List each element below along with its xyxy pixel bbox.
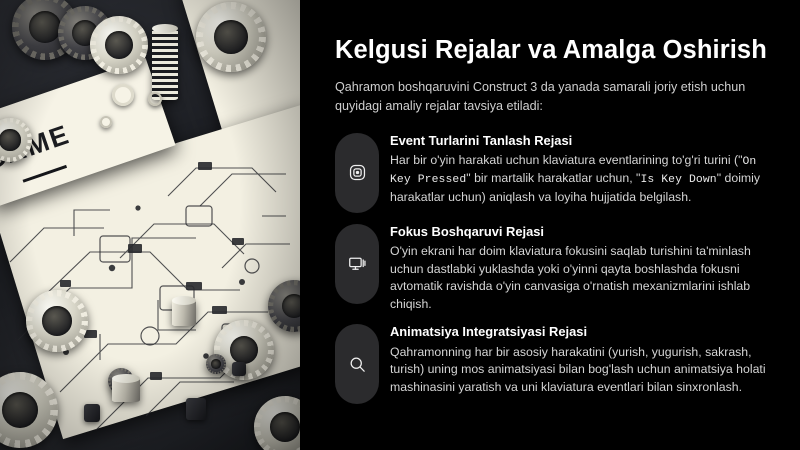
monitor-icon <box>348 254 367 273</box>
search-icon <box>348 355 367 374</box>
page-title: Kelgusi Rejalar va Amalga Oshirish <box>335 36 778 65</box>
plan-description: O'yin ekrani har doim klaviatura fokusin… <box>390 243 778 313</box>
plan-icon-badge <box>335 133 379 213</box>
list-item[interactable]: Event Turlarini Tanlash Rejasi Har bir o… <box>335 131 778 213</box>
bearing-ring <box>112 84 134 106</box>
bearing-ring <box>100 116 112 128</box>
aperture-icon <box>348 163 367 182</box>
cylinder-part <box>112 378 140 402</box>
knob-part <box>84 404 100 422</box>
plan-body: Animatsiya Integratsiyasi Rejasi Qahramo… <box>390 322 778 396</box>
gear-part <box>90 16 148 74</box>
plan-title: Animatsiya Integratsiyasi Rejasi <box>390 324 778 339</box>
plan-description: Har bir o'yin harakati uchun klaviatura … <box>390 152 778 206</box>
plan-description: Qahramonning har bir asosiy harakatini (… <box>390 344 778 397</box>
list-item[interactable]: Animatsiya Integratsiyasi Rejasi Qahramo… <box>335 322 778 404</box>
plan-body: Fokus Boshqaruvi Rejasi O'yin ekrani har… <box>390 222 778 314</box>
bearing-ring <box>148 92 162 106</box>
knob-part <box>232 362 246 376</box>
plan-title: Fokus Boshqaruvi Rejasi <box>390 224 778 239</box>
slide-root: GAME <box>0 0 800 450</box>
plan-icon-badge <box>335 224 379 304</box>
illustration-panel: GAME <box>0 0 300 450</box>
page-subtitle: Qahramon boshqaruvini Construct 3 da yan… <box>335 78 765 116</box>
gear-part <box>26 290 88 352</box>
gear-part <box>206 354 226 374</box>
cylinder-part <box>172 300 196 326</box>
plan-body: Event Turlarini Tanlash Rejasi Har bir o… <box>390 131 778 207</box>
plan-title: Event Turlarini Tanlash Rejasi <box>390 133 778 148</box>
knob-part <box>186 398 206 420</box>
content-panel: Kelgusi Rejalar va Amalga Oshirish Qahra… <box>300 0 800 450</box>
stacked-washers <box>152 28 178 100</box>
list-item[interactable]: Fokus Boshqaruvi Rejasi O'yin ekrani har… <box>335 222 778 314</box>
plan-icon-badge <box>335 324 379 404</box>
machined-block <box>196 2 266 72</box>
plan-list: Event Turlarini Tanlash Rejasi Har bir o… <box>335 131 778 405</box>
